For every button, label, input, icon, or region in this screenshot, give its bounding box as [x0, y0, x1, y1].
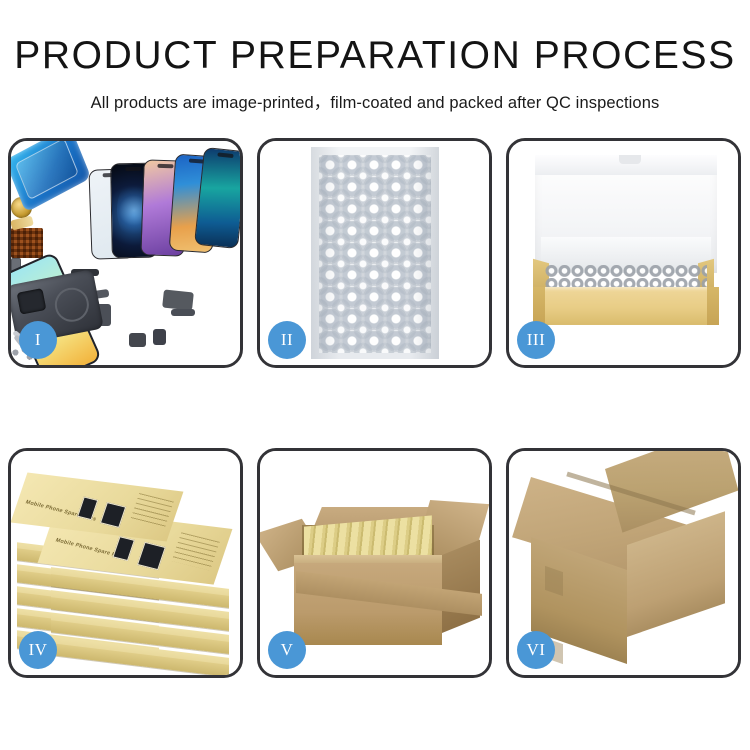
carton-side-panel: [442, 540, 480, 633]
part-chip-grid: [11, 228, 43, 258]
notch-icon: [125, 167, 141, 171]
part-flex-cable-4: [171, 309, 195, 316]
step-badge-2: II: [268, 321, 306, 359]
page-subtitle: All products are image-printed，film-coat…: [0, 89, 750, 113]
step-badge-6: VI: [517, 631, 555, 669]
box-label-specs: [130, 493, 174, 529]
box-label-specs: [172, 532, 220, 570]
bubble-wrap-sheet: [311, 147, 439, 359]
process-step-panel-1: I: [8, 138, 243, 368]
process-step-panel-5: V: [257, 448, 492, 678]
blue-protective-film: [11, 141, 91, 212]
part-camera-module: [129, 333, 146, 347]
step-badge-1: I: [19, 321, 57, 359]
product-preparation-infographic: PRODUCT PREPARATION PROCESS All products…: [0, 0, 750, 750]
step-badge-5: V: [268, 631, 306, 669]
wrap-shading: [311, 147, 439, 359]
notch-icon: [157, 164, 173, 168]
mailer-box-front-panel: [533, 287, 719, 325]
notch-icon: [217, 152, 233, 157]
step-badge-4: IV: [19, 631, 57, 669]
part-flex-cable-3: [162, 289, 194, 310]
process-step-panel-3: III: [506, 138, 741, 368]
process-step-panel-6: VI: [506, 448, 741, 678]
header: PRODUCT PREPARATION PROCESS All products…: [0, 0, 750, 113]
step-badge-3: III: [517, 321, 555, 359]
box-label-screen-image: [137, 542, 166, 570]
process-step-panel-2: II: [257, 138, 492, 368]
page-title: PRODUCT PREPARATION PROCESS: [0, 36, 750, 75]
kraft-box-printed-top-1: Mobile Phone Spare Parts: [11, 472, 183, 541]
process-step-grid: I II III: [8, 138, 742, 678]
mailer-box-lid-fold: [535, 155, 717, 175]
process-step-panel-4: Mobile Phone Spare Parts Mobile Phone Sp…: [8, 448, 243, 678]
box-label-screen-image: [112, 536, 135, 561]
box-label-screen-image: [100, 502, 126, 528]
part-speaker-module: [153, 329, 166, 345]
